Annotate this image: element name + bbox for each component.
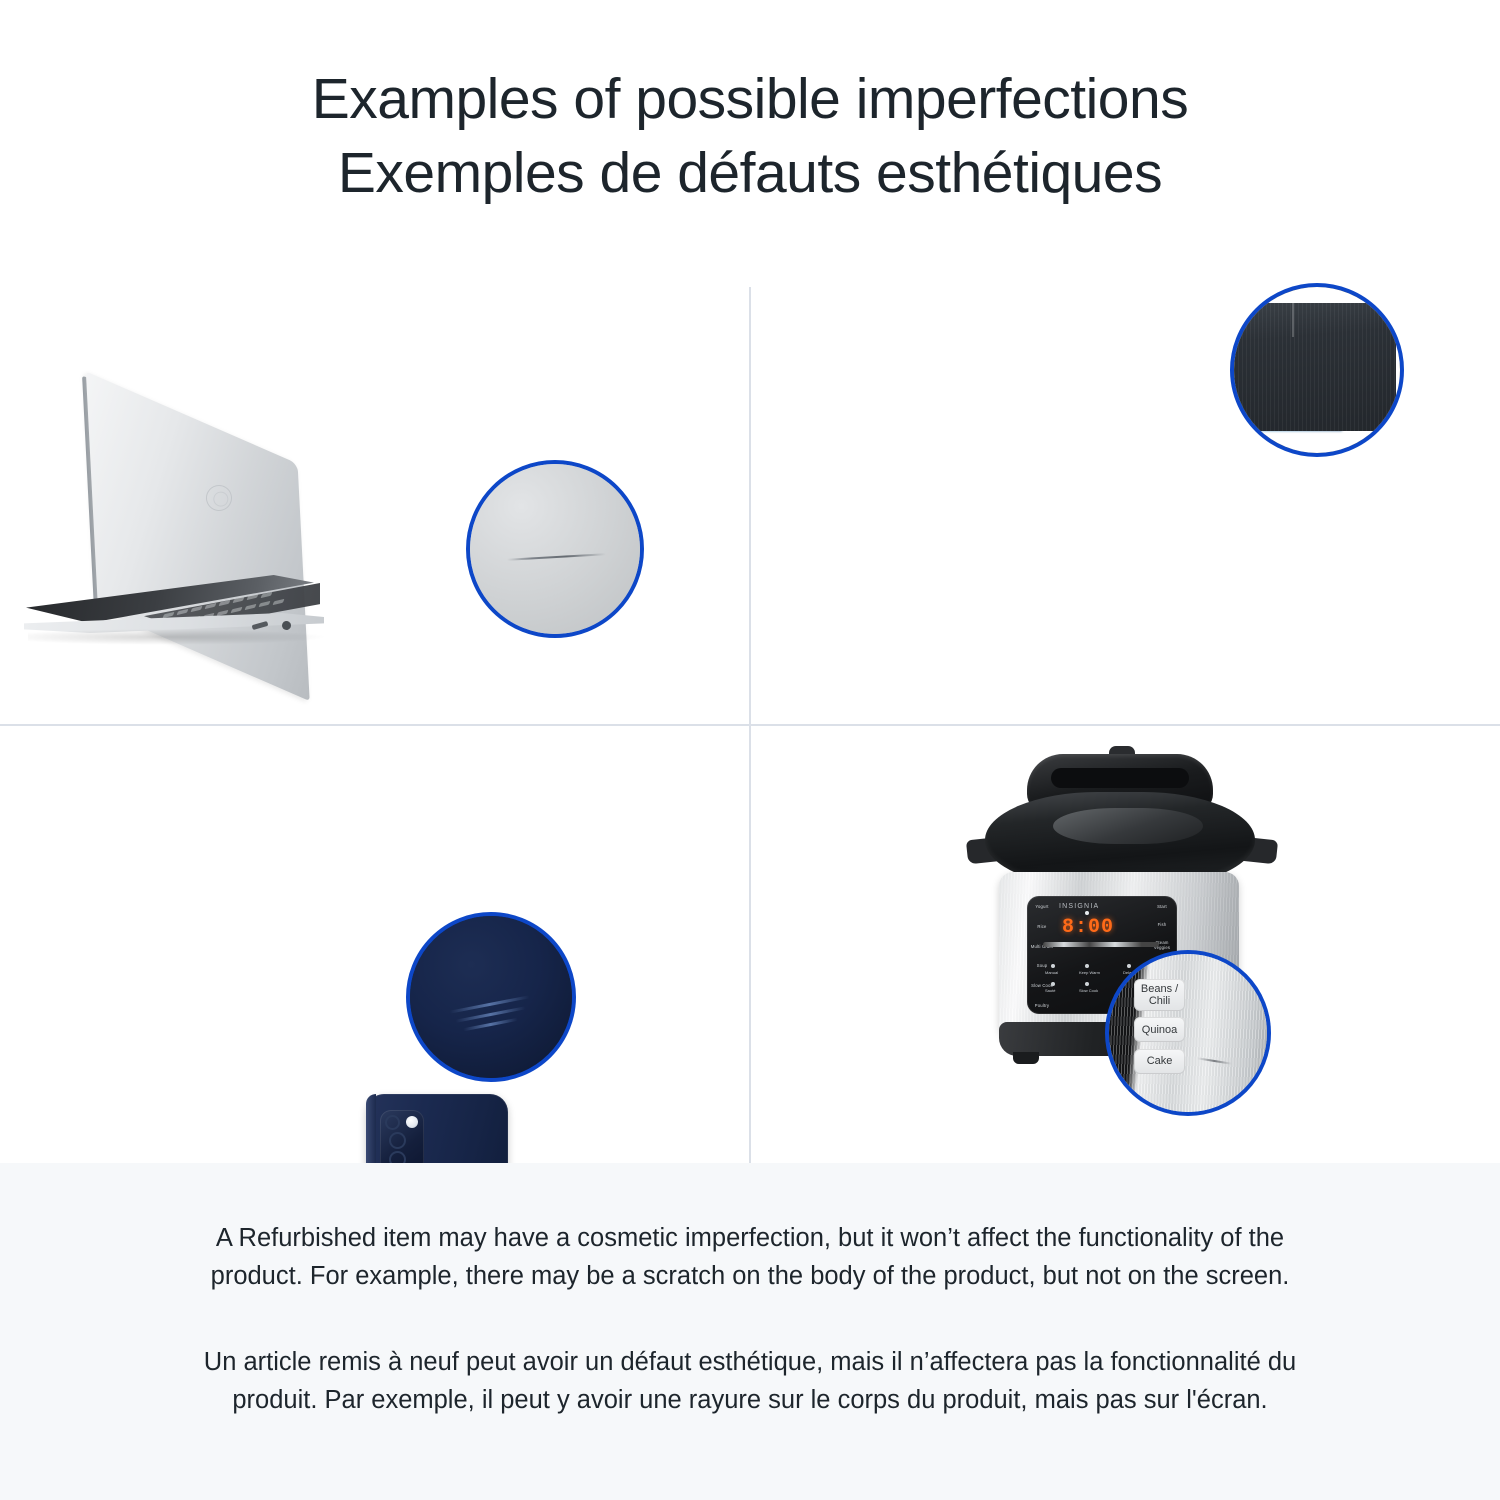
- cooker-status-led-icon: [1085, 911, 1089, 915]
- magnifier-laptop-scratch: [466, 460, 644, 638]
- phone-camera-flash-icon: [406, 1116, 418, 1128]
- cooker-foot-left: [1013, 1052, 1039, 1064]
- cooker-display: 8:00: [1057, 916, 1119, 938]
- cooker-label-manual: Manual: [1045, 970, 1058, 975]
- description-text-english: A Refurbished item may have a cosmetic i…: [180, 1219, 1320, 1295]
- magnifier-tv-surface: [1234, 287, 1400, 453]
- title-line-english: Examples of possible imperfections: [0, 62, 1500, 136]
- tv-bezel-seam-mark: [1292, 303, 1294, 337]
- cooker-pressure-indicator: [1043, 942, 1159, 947]
- description-text-french: Un article remis à neuf peut avoir un dé…: [180, 1343, 1320, 1419]
- cooker-label-keepwarm: Keep Warm: [1079, 970, 1100, 975]
- page-title: Examples of possible imperfections Exemp…: [0, 62, 1500, 210]
- title-line-french: Exemples de défauts esthétiques: [0, 136, 1500, 210]
- laptop-lid: [86, 371, 310, 701]
- phone-camera-lens-wide-icon: [389, 1132, 406, 1149]
- cooker-button-start[interactable]: Start: [1149, 904, 1175, 909]
- magnified-button-beans-chili[interactable]: Beans / Chili: [1134, 979, 1185, 1011]
- refurbished-imperfections-infographic: Examples of possible imperfections Exemp…: [0, 0, 1500, 1500]
- magnifier-tv-corner: [1230, 283, 1404, 457]
- cooker-label-saute: Sauté: [1045, 988, 1055, 993]
- cooker-button-rice[interactable]: Rice: [1029, 924, 1055, 929]
- magnified-tv-bezel: [1230, 303, 1396, 431]
- laptop-base: [20, 575, 324, 635]
- cooker-button-yogurt[interactable]: Yogurt: [1029, 904, 1055, 909]
- cooker-label-slowcook: Slow Cook: [1079, 988, 1098, 993]
- cooker-button-fish[interactable]: Fish: [1149, 922, 1175, 927]
- cooker-lid-plate: [1053, 808, 1203, 844]
- magnifier-cooker-scratch: Beans / Chili Quinoa Cake: [1105, 950, 1271, 1116]
- magnified-button-quinoa[interactable]: Quinoa: [1134, 1017, 1185, 1042]
- laptop-illustration: [20, 377, 380, 657]
- magnifier-laptop-surface: [470, 464, 640, 634]
- panel-smartphone: [0, 726, 749, 1163]
- cooker-brand-logo: INSIGNIA: [1059, 903, 1099, 910]
- laptop-shadow: [28, 629, 328, 645]
- magnifier-cooker-surface: [1109, 954, 1267, 1112]
- magnifier-phone-surface: [410, 916, 572, 1078]
- description-panel: A Refurbished item may have a cosmetic i…: [0, 1163, 1500, 1500]
- magnifier-phone-scratches: [406, 912, 576, 1082]
- cooker-brushed-steel-texture: [1109, 954, 1267, 1112]
- phone-camera-lens-ultrawide-icon: [385, 1115, 400, 1130]
- magnified-button-cake[interactable]: Cake: [1134, 1049, 1185, 1074]
